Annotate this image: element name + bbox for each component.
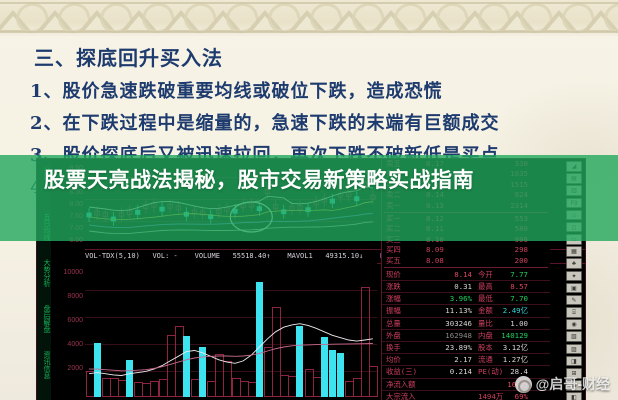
- indicator-name: VOL-TDX(5,10): [85, 252, 140, 260]
- stat-value-right: 8.57: [510, 281, 528, 292]
- stat-label-left: 涨跌: [386, 281, 401, 292]
- quote-stat-row: 总量303246量比1.00: [382, 318, 550, 330]
- stat-label-left: 均价: [386, 354, 401, 365]
- stat-label-right: 股本: [478, 342, 493, 353]
- level-label: 买五: [386, 256, 401, 266]
- toolbar-icon-8[interactable]: ♣: [566, 258, 582, 269]
- quote-stat-row: 涨跌0.31最高8.57: [382, 281, 550, 293]
- stat-label-right: 量比: [478, 318, 493, 329]
- stat-label-right: 内盘: [478, 330, 493, 341]
- stat-value-left: 303246: [430, 318, 472, 329]
- stat-value-right: 7.70: [510, 293, 528, 304]
- stat-label-right: 最高: [478, 281, 493, 292]
- stat-label-left: 总量: [386, 318, 401, 329]
- toolbar-icon-16[interactable]: ◨: [566, 356, 582, 367]
- level-volume: 200: [515, 256, 528, 266]
- toolbar-icon-15[interactable]: ▨: [566, 344, 582, 355]
- notes-item: 2、在下跌过程中是缩量的，急速下跌的末端有巨额成交: [30, 109, 590, 135]
- side-tab-2[interactable]: 大势分析: [38, 259, 50, 287]
- toolbar-icon-11[interactable]: ✎: [566, 295, 582, 306]
- notes-item: 1、股价急速跌破重要均线或破位下跌，造成恐慌: [30, 77, 590, 103]
- decorative-top-border: [0, 0, 618, 36]
- buy-level-row[interactable]: 买五8.08200: [382, 256, 550, 266]
- toolbar-icon-14[interactable]: ▧: [566, 331, 582, 342]
- stat-value-right: 1.00: [510, 318, 528, 329]
- quote-stat-row: 现价8.14今开7.77: [382, 269, 550, 281]
- stat-label-left: 换手: [386, 342, 401, 353]
- page-title: 股票天亮战法揭秘，股市交易新策略实战指南: [44, 165, 574, 196]
- indicator-mavol1-value: 49315.10↓: [325, 252, 363, 260]
- stat-value-left: 2.17: [430, 354, 472, 365]
- mavol-lines: [85, 263, 377, 397]
- stat-label-right: 今开: [478, 269, 493, 280]
- stat-value-right: 3.12亿: [503, 342, 528, 353]
- side-tab-3[interactable]: 盘后解盘: [38, 305, 50, 333]
- stat-label-right: 金额: [478, 305, 493, 316]
- volume-axis-tick: 10000: [64, 269, 83, 276]
- indicator-vol-label: VOL: -: [152, 252, 177, 260]
- stat-value-right: 140129: [501, 330, 528, 341]
- stat-label-left: 外盘: [386, 330, 401, 341]
- stat-label-right: 最低: [478, 293, 493, 304]
- quote-divider: [384, 267, 548, 268]
- stat-label-left: 涨幅: [386, 293, 401, 304]
- stat-label-right: 流通: [478, 354, 493, 365]
- border-rule: [0, 31, 618, 33]
- buy-level-row[interactable]: 买四8.09298: [382, 245, 550, 255]
- stat-label-left: 大宗流入: [386, 391, 416, 400]
- indicator-volume-value: 55518.40↑: [233, 252, 271, 260]
- level-price: 8.09: [426, 245, 444, 255]
- stat-value-left: 8.14: [430, 269, 472, 280]
- toolbar-icon-9[interactable]: ✦: [566, 271, 582, 282]
- volume-axis-tick: 4000: [67, 341, 83, 348]
- notes-heading: 三、探底回升买入法: [30, 42, 590, 71]
- stat-label-left: 现价: [386, 269, 401, 280]
- stat-value-left: 3.96%: [430, 293, 472, 304]
- stat-value-left: 0.214: [430, 366, 472, 377]
- stat-label-left: 收益(三): [386, 366, 417, 377]
- toolbar-icon-13[interactable]: ◉: [566, 319, 582, 330]
- toolbar-icon-12[interactable]: ⌸: [566, 307, 582, 318]
- toolbar-icon-10[interactable]: ▣: [566, 283, 582, 294]
- quote-stat-row: 均价2.17流通1.27亿: [382, 354, 550, 366]
- toolbar-icon-7[interactable]: ▦: [566, 246, 582, 257]
- stat-value-left: 11.13%: [430, 305, 472, 316]
- stat-label-right: 1494万: [478, 391, 503, 400]
- volume-axis-tick: 2000: [67, 365, 83, 372]
- indicator-volume-label: VOLUME: [195, 252, 220, 260]
- stat-label-right: PE(动): [478, 366, 503, 377]
- watermark-handle: @启哥-财经: [536, 374, 610, 394]
- weibo-logo-icon: [515, 376, 532, 393]
- stat-value-left: 0.31: [430, 281, 472, 292]
- indicator-mavol1-label: MAVOL1: [287, 252, 312, 260]
- quote-stat-row: 换手23.89%股本3.12亿: [382, 342, 550, 354]
- volume-axis-tick: 8000: [67, 293, 83, 300]
- stat-label-left: 净流入额: [386, 379, 416, 390]
- volume-chart[interactable]: [85, 263, 377, 397]
- quote-stat-row: 振幅11.13%金额2.49亿: [382, 305, 550, 317]
- screenshot-canvas: 三、探底回升买入法 1、股价急速跌破重要均线或破位下跌，造成恐慌 2、在下跌过程…: [0, 0, 618, 400]
- level-volume: 298: [515, 245, 528, 255]
- title-overlay: 股票天亮战法揭秘，股市交易新策略实战指南: [0, 155, 618, 241]
- level-label: 买四: [386, 245, 401, 255]
- volume-axis: 100008000600040002000: [51, 263, 85, 397]
- stat-label-left: 振幅: [386, 305, 401, 316]
- stat-value-left: 23.89%: [430, 342, 472, 353]
- watermark: @启哥-财经: [515, 374, 610, 394]
- level-price: 8.08: [426, 256, 444, 266]
- quote-stat-row: 涨幅3.96%最低7.70: [382, 293, 550, 305]
- quote-stat-row: 外盘162948内盘140129: [382, 330, 550, 342]
- stat-value-right: 2.49亿: [503, 305, 528, 316]
- volume-axis-tick: 6000: [67, 317, 83, 324]
- stat-value-right: 7.77: [510, 269, 528, 280]
- side-tab-4[interactable]: 资讯信息: [38, 351, 50, 379]
- border-rule: [0, 2, 618, 4]
- stat-value-left: 162948: [430, 330, 472, 341]
- stat-value-right: 1.27亿: [503, 354, 528, 365]
